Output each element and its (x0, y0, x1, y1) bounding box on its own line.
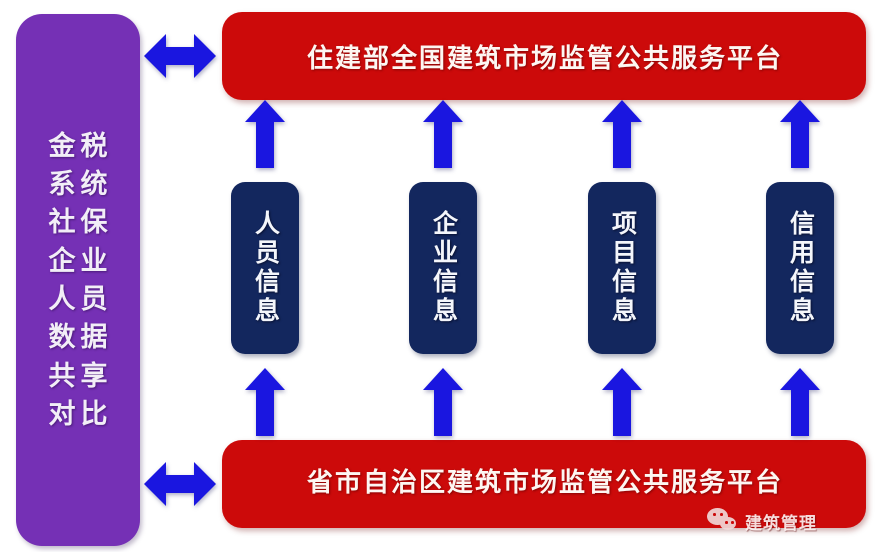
arrow-up-icon-credit-to-national (780, 100, 820, 168)
wechat-watermark-label: 建筑管理 (745, 509, 817, 534)
arrow-left-right-icon-sidebar-to-provincial (144, 462, 216, 506)
arrow-up-icon-project-to-national (602, 100, 642, 168)
sidebar-line-8: 对比 (44, 400, 113, 428)
arrow-up-icon-provincial-to-credit (780, 368, 820, 436)
info-box-credit-label: 信用信息 (784, 210, 817, 326)
provincial-platform-label: 省市自治区建筑市场监管公共服务平台 (305, 462, 783, 499)
sidebar-line-7: 共享 (44, 362, 113, 390)
info-box-enterprise: 企业信息 (409, 182, 477, 354)
sidebar-line-3: 社保 (44, 208, 113, 236)
info-box-personnel-label: 人员信息 (249, 210, 282, 326)
sidebar-line-5: 人员 (44, 285, 113, 313)
national-platform-label: 住建部全国建筑市场监管公共服务平台 (305, 38, 783, 75)
arrow-up-icon-personnel-to-national (245, 100, 285, 168)
info-box-enterprise-label: 企业信息 (427, 210, 460, 326)
sidebar-line-6: 数据 (44, 323, 113, 351)
wechat-watermark: 建筑管理 (707, 508, 817, 534)
info-box-project: 项目信息 (588, 182, 656, 354)
arrow-up-icon-provincial-to-enterprise (423, 368, 463, 436)
info-box-credit: 信用信息 (766, 182, 834, 354)
sidebar-data-sharing-panel: 金税 系统 社保 企业 人员 数据 共享 对比 (16, 14, 140, 546)
arrow-up-icon-provincial-to-personnel (245, 368, 285, 436)
sidebar-line-1: 金税 (44, 132, 113, 160)
sidebar-line-2: 系统 (44, 170, 113, 198)
arrow-up-icon-provincial-to-project (602, 368, 642, 436)
info-box-project-label: 项目信息 (606, 210, 639, 326)
sidebar-line-4: 企业 (44, 247, 113, 275)
diagram-canvas: 金税 系统 社保 企业 人员 数据 共享 对比 住建部全国建筑市场监管公共服务平… (0, 0, 879, 552)
national-platform-banner: 住建部全国建筑市场监管公共服务平台 (222, 12, 866, 100)
info-box-personnel: 人员信息 (231, 182, 299, 354)
arrow-up-icon-enterprise-to-national (423, 100, 463, 168)
arrow-left-right-icon-sidebar-to-national (144, 34, 216, 78)
wechat-icon (707, 508, 739, 534)
